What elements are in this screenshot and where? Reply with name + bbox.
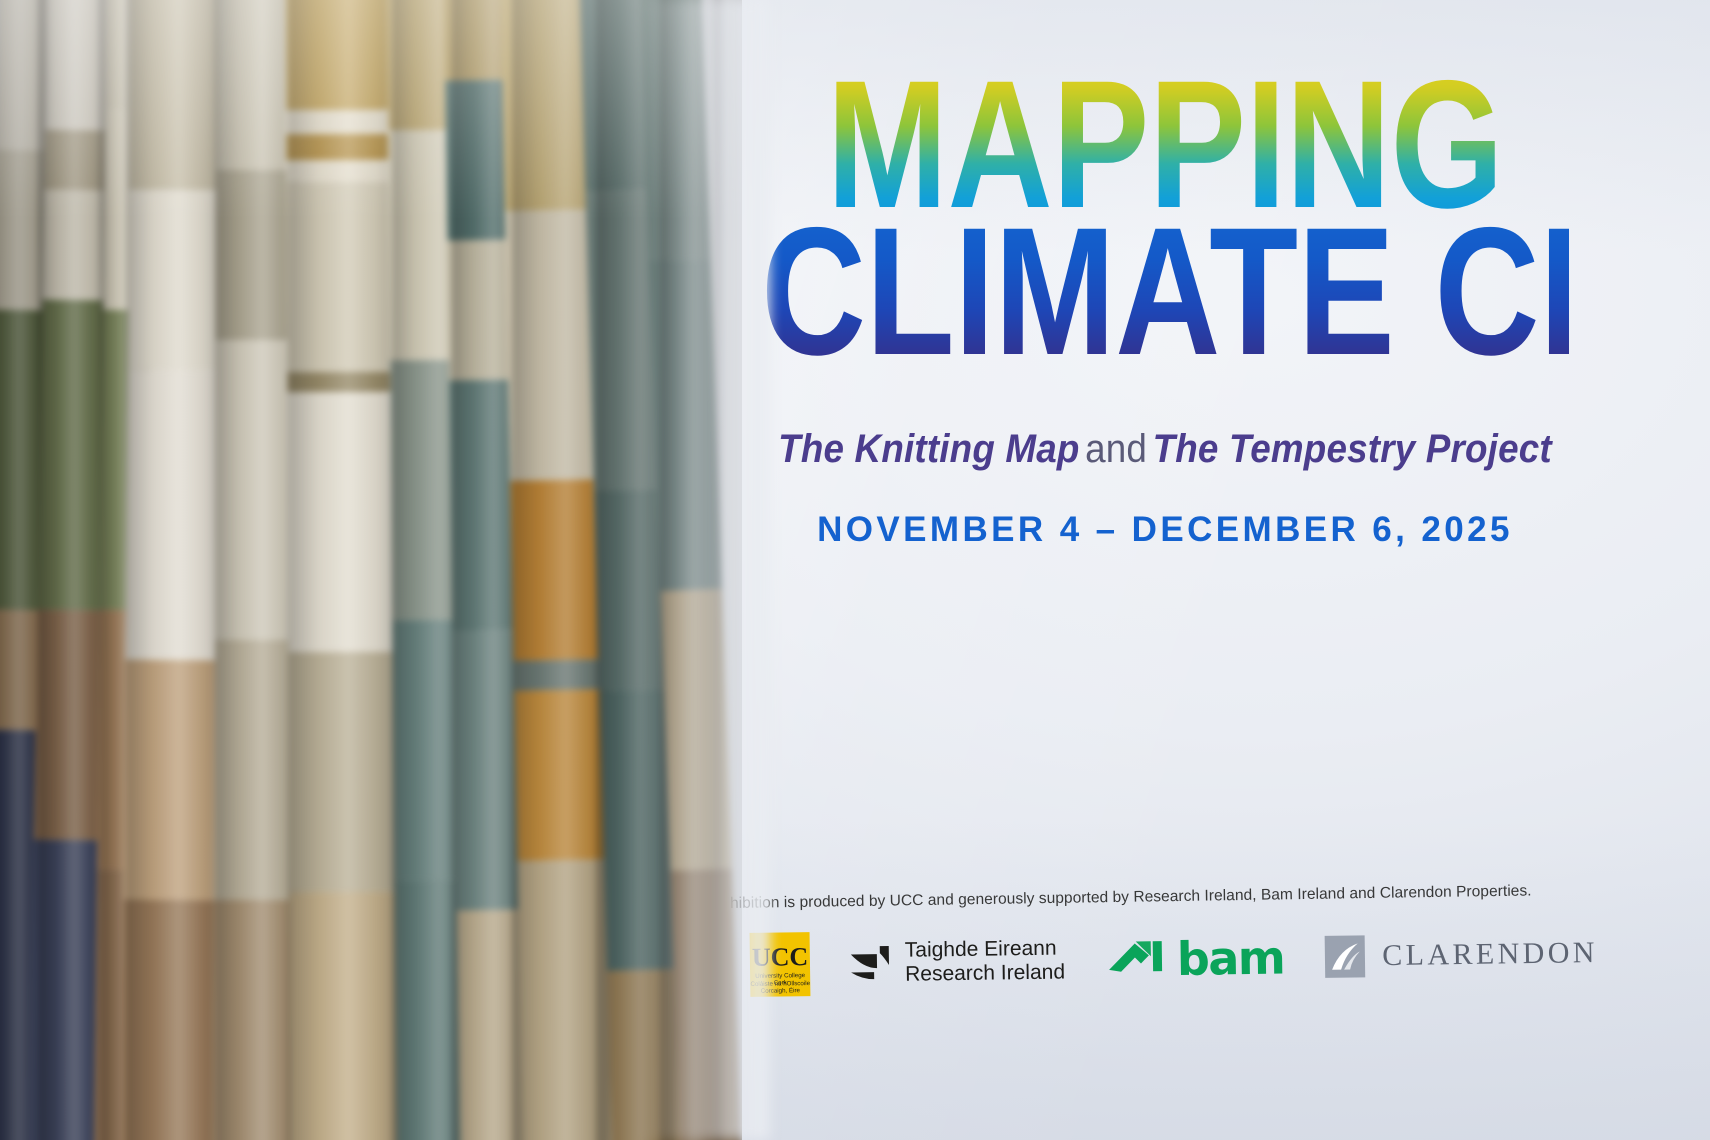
research-ireland-wordmark: Taighde Eireann Research Ireland <box>905 937 1066 987</box>
research-ireland-logo: Taighde Eireann Research Ireland <box>850 937 1066 988</box>
exhibition-dates: NOVEMBER 4 – DECEMBER 6, 2025 <box>660 510 1670 550</box>
textile-strip <box>122 0 227 1140</box>
subtitle-title-1: The Knitting Map <box>778 427 1079 471</box>
textile-strip <box>286 0 400 1140</box>
clarendon-wordmark: CLARENDON <box>1382 936 1598 973</box>
ucc-logo-line2: Coláiste na hOllscoile Corcaigh, Éire <box>750 980 810 995</box>
poster-footer: hibition is produced by UCC and generous… <box>600 895 1710 999</box>
subtitle-conjunction: and <box>1080 427 1153 471</box>
sponsor-logo-row: UCC University College Cork Coláiste na … <box>600 920 1710 999</box>
bam-wordmark: bam <box>1177 934 1285 981</box>
headline-line-2: CLIMATE CHANGE <box>761 211 1569 384</box>
bam-arrow-icon <box>1105 935 1168 984</box>
ucc-logo-acronym: UCC <box>752 942 808 973</box>
poster-subtitle: The Knitting MapandThe Tempestry Project <box>700 427 1629 472</box>
clarendon-mark-icon <box>1324 933 1367 980</box>
subtitle-title-2: The Tempestry Project <box>1153 427 1552 471</box>
ucc-logo: UCC University College Cork Coláiste na … <box>750 932 811 997</box>
research-ireland-line1: Taighde Eireann <box>905 937 1057 962</box>
research-ireland-flag-icon <box>850 943 893 984</box>
clarendon-logo: CLARENDON <box>1324 930 1598 980</box>
bam-logo: bam <box>1105 933 1285 984</box>
knitting-map-textile <box>0 0 742 1140</box>
poster-text-block: MAPPING CLIMATE CHANGE The Knitting Mapa… <box>660 60 1670 550</box>
textile-blur-layer <box>0 0 742 1140</box>
screenshot-root: MAPPING CLIMATE CHANGE The Knitting Mapa… <box>0 0 1710 1140</box>
research-ireland-line2: Research Ireland <box>905 961 1065 986</box>
